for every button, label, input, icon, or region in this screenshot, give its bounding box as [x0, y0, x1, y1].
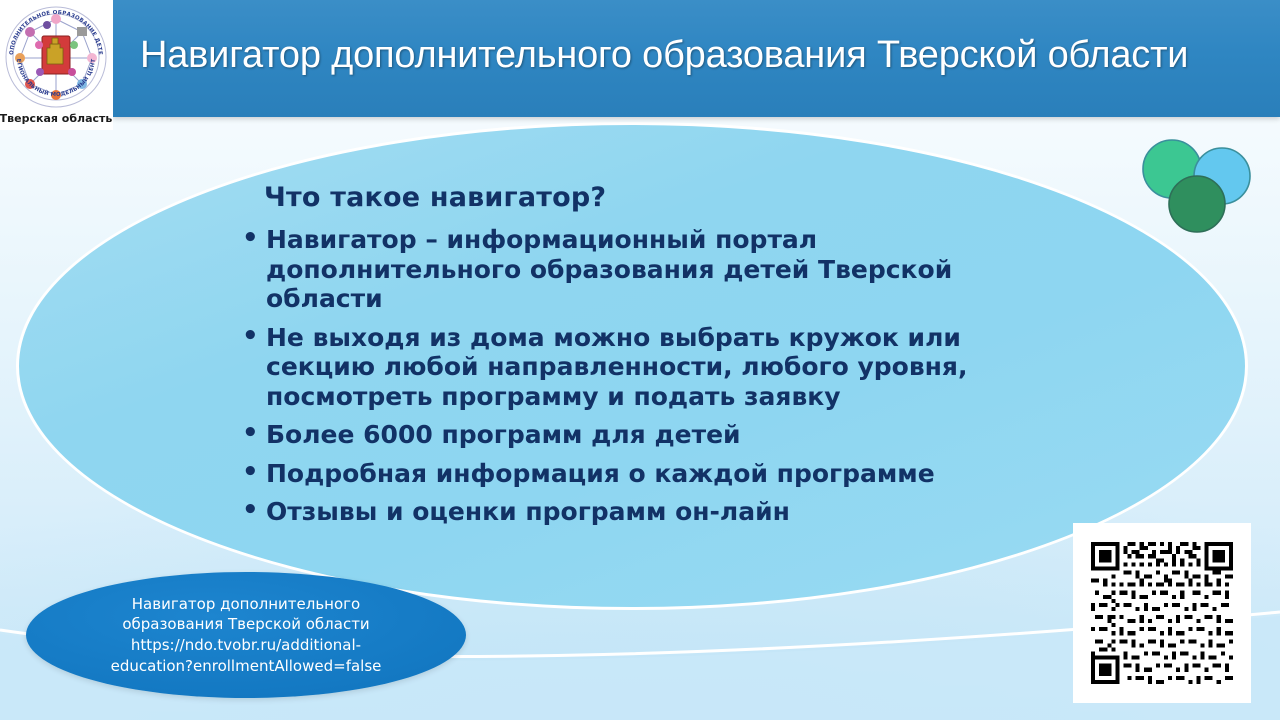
url-line-4: education?enrollmentAllowed=false: [81, 656, 411, 677]
url-badge-text: Навигатор дополнительного образования Тв…: [81, 594, 411, 677]
url-line-1: Навигатор дополнительного: [81, 594, 411, 615]
circle-dark-green-icon: [1169, 176, 1225, 232]
bullet-item-5: Отзывы и оценки программ он-лайн: [236, 497, 1056, 527]
logo: ДОПОЛНИТЕЛЬНОЕ ОБРАЗОВАНИЕ ДЕТЕЙ РЕГИОНА…: [0, 0, 113, 130]
content-heading: Что такое навигатор?: [264, 182, 1056, 213]
qr-code-icon: [1087, 538, 1237, 688]
bullet-item-2: Не выходя из дома можно выбрать кружок и…: [236, 323, 1056, 412]
bullet-list: Навигатор – информационный портал дополн…: [236, 225, 1056, 527]
decorative-circles: [1134, 134, 1264, 234]
slide-root: Навигатор дополнительного образования Тв…: [0, 0, 1280, 720]
svg-text:Тверская область: Тверская область: [0, 112, 112, 125]
bullet-item-1: Навигатор – информационный портал дополн…: [236, 225, 1056, 314]
qr-code-panel[interactable]: [1073, 523, 1251, 703]
bullet-item-3: Более 6000 программ для детей: [236, 420, 1056, 450]
regional-model-center-logo-icon: ДОПОЛНИТЕЛЬНОЕ ОБРАЗОВАНИЕ ДЕТЕЙ РЕГИОНА…: [0, 0, 113, 130]
page-title: Навигатор дополнительного образования Тв…: [140, 34, 1280, 77]
url-line-3: https://ndo.tvobr.ru/additional-: [81, 635, 411, 656]
url-line-2: образования Тверской области: [81, 614, 411, 635]
content-block: Что такое навигатор? Навигатор – информа…: [236, 182, 1056, 536]
url-badge[interactable]: Навигатор дополнительного образования Тв…: [26, 572, 466, 698]
bullet-item-4: Подробная информация о каждой программе: [236, 459, 1056, 489]
